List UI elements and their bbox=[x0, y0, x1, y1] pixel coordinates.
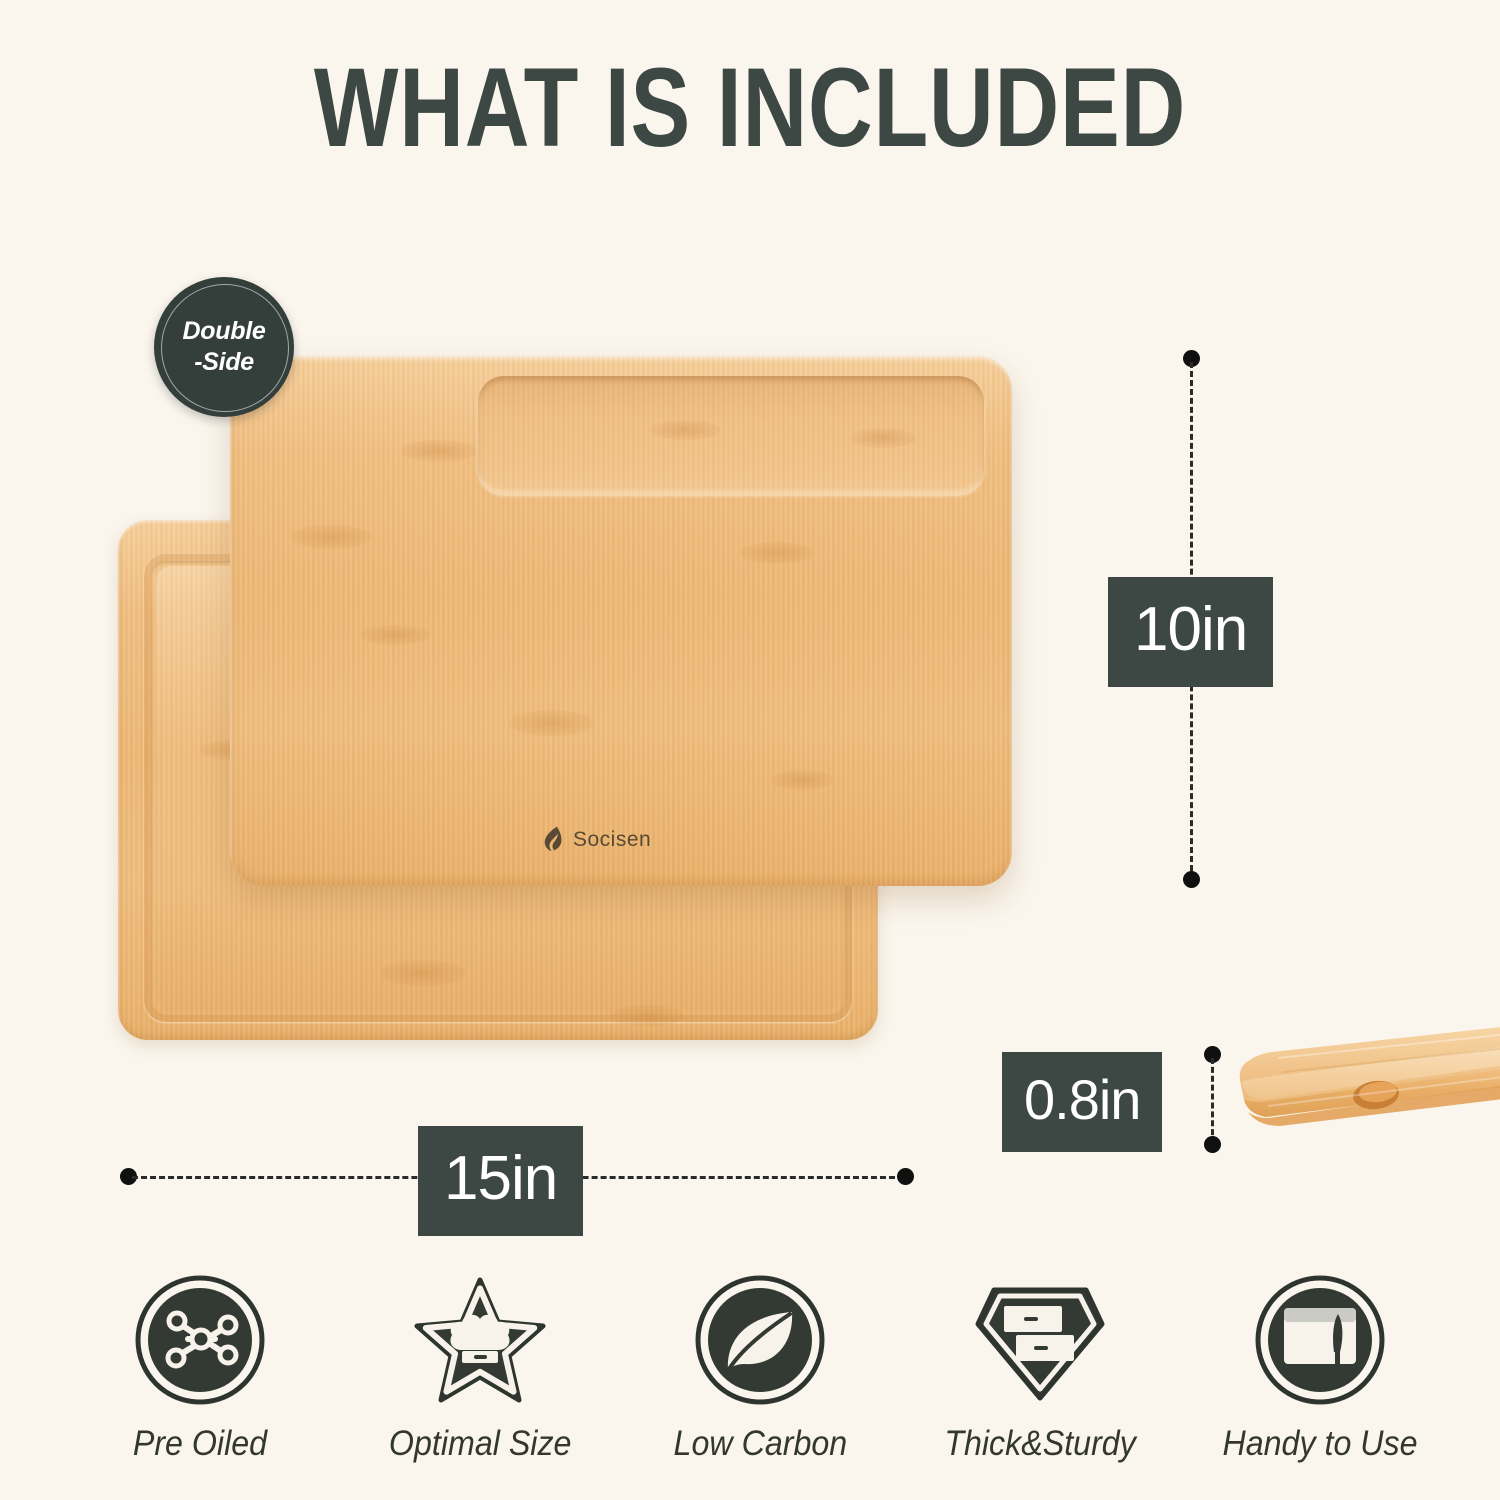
board-edge-illustration bbox=[1228, 1022, 1500, 1202]
feature-label-optimal-size: Optimal Size bbox=[389, 1424, 572, 1464]
feature-item-low-carbon: Low Carbon bbox=[620, 1272, 900, 1464]
dimension-thickness-label: 0.8in bbox=[1002, 1052, 1162, 1152]
badge-line-2: -Side bbox=[194, 349, 254, 376]
page-title: WHAT IS INCLUDED bbox=[150, 52, 1350, 164]
feature-label-low-carbon: Low Carbon bbox=[673, 1424, 847, 1464]
feature-item-handy-to-use: Handy to Use bbox=[1180, 1272, 1460, 1464]
low-carbon-icon-wrap bbox=[692, 1272, 828, 1408]
feature-item-pre-oiled: Pre Oiled bbox=[60, 1272, 340, 1464]
feature-label-pre-oiled: Pre Oiled bbox=[133, 1424, 267, 1464]
feature-item-thick-sturdy: Thick&Sturdy bbox=[900, 1272, 1180, 1464]
optimal-size-icon-wrap bbox=[412, 1272, 548, 1408]
handy-to-use-icon-wrap bbox=[1252, 1272, 1388, 1408]
thick-sturdy-icon-wrap bbox=[972, 1272, 1108, 1408]
dimension-thickness-line bbox=[1211, 1058, 1214, 1144]
dimension-thickness-dot-bottom bbox=[1204, 1136, 1221, 1153]
oil-molecule-icon bbox=[132, 1272, 268, 1408]
badge-line-1: Double bbox=[183, 318, 266, 345]
star-chef-hat-icon bbox=[412, 1272, 548, 1408]
dimension-width-dot-right bbox=[897, 1168, 914, 1185]
dimension-height-dot-bottom bbox=[1183, 871, 1200, 888]
feature-label-handy-to-use: Handy to Use bbox=[1222, 1424, 1417, 1464]
feature-label-thick-sturdy: Thick&Sturdy bbox=[944, 1424, 1135, 1464]
double-side-badge: Double -Side bbox=[154, 277, 294, 417]
board-with-knife-icon bbox=[1252, 1272, 1388, 1408]
cutting-board-front bbox=[230, 356, 1012, 886]
diamond-stacked-boards-icon bbox=[972, 1272, 1108, 1408]
leaf-icon bbox=[692, 1272, 828, 1408]
feature-item-optimal-size: Optimal Size bbox=[340, 1272, 620, 1464]
infographic-canvas: WHAT IS INCLUDED Socisen bbox=[0, 0, 1500, 1500]
board-edge-view bbox=[1228, 1022, 1500, 1202]
dimension-width-label: 15in bbox=[418, 1126, 583, 1236]
pre-oiled-icon-wrap bbox=[132, 1272, 268, 1408]
feature-list: Pre Oiled Optimal Size bbox=[60, 1272, 1460, 1487]
dimension-height-label: 10in bbox=[1108, 577, 1273, 687]
